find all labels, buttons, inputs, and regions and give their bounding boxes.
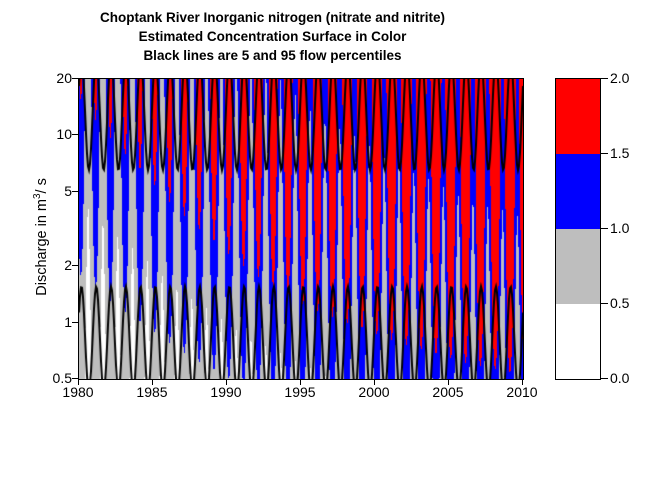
concentration-surface-canvas — [79, 79, 523, 379]
legend-tick-mark — [601, 378, 608, 379]
y-axis-title-exponent: 3 — [32, 193, 43, 199]
y-axis-title: Discharge in m3/ s — [32, 117, 50, 357]
y-axis-title-suffix: / s — [34, 178, 50, 193]
chart-title-line-1: Choptank River Inorganic nitrogen (nitra… — [0, 8, 545, 27]
figure-container: Choptank River Inorganic nitrogen (nitra… — [0, 0, 672, 480]
legend-tick-label: 0.0 — [610, 371, 629, 385]
x-tick-label: 1980 — [48, 385, 108, 399]
y-tick-label: 0.5 — [32, 371, 72, 385]
x-tick-label: 2005 — [418, 385, 478, 399]
legend-band — [556, 79, 600, 154]
color-legend — [555, 78, 601, 380]
y-tick-mark — [72, 134, 78, 135]
chart-title-line-3: Black lines are 5 and 95 flow percentile… — [0, 46, 545, 65]
legend-tick-mark — [601, 228, 608, 229]
legend-tick-label: 1.0 — [610, 221, 629, 235]
chart-title-block: Choptank River Inorganic nitrogen (nitra… — [0, 8, 545, 65]
x-tick-label: 1985 — [122, 385, 182, 399]
x-tick-label: 2010 — [492, 385, 552, 399]
legend-band — [556, 304, 600, 379]
legend-band — [556, 229, 600, 304]
y-tick-mark — [72, 322, 78, 323]
chart-title-line-2: Estimated Concentration Surface in Color — [0, 27, 545, 46]
y-tick-mark — [72, 265, 78, 266]
y-axis-title-text: Discharge in m — [34, 199, 50, 296]
y-tick-mark — [72, 191, 78, 192]
x-tick-label: 2000 — [344, 385, 404, 399]
y-tick-mark — [72, 78, 78, 79]
legend-band — [556, 154, 600, 229]
legend-tick-label: 2.0 — [610, 71, 629, 85]
y-tick-label: 20 — [32, 71, 72, 85]
legend-tick-label: 1.5 — [610, 146, 629, 160]
legend-tick-label: 0.5 — [610, 296, 629, 310]
concentration-surface-plot — [78, 78, 524, 380]
legend-tick-mark — [601, 153, 608, 154]
legend-tick-mark — [601, 78, 608, 79]
x-tick-label: 1990 — [196, 385, 256, 399]
x-tick-label: 1995 — [270, 385, 330, 399]
legend-tick-mark — [601, 303, 608, 304]
